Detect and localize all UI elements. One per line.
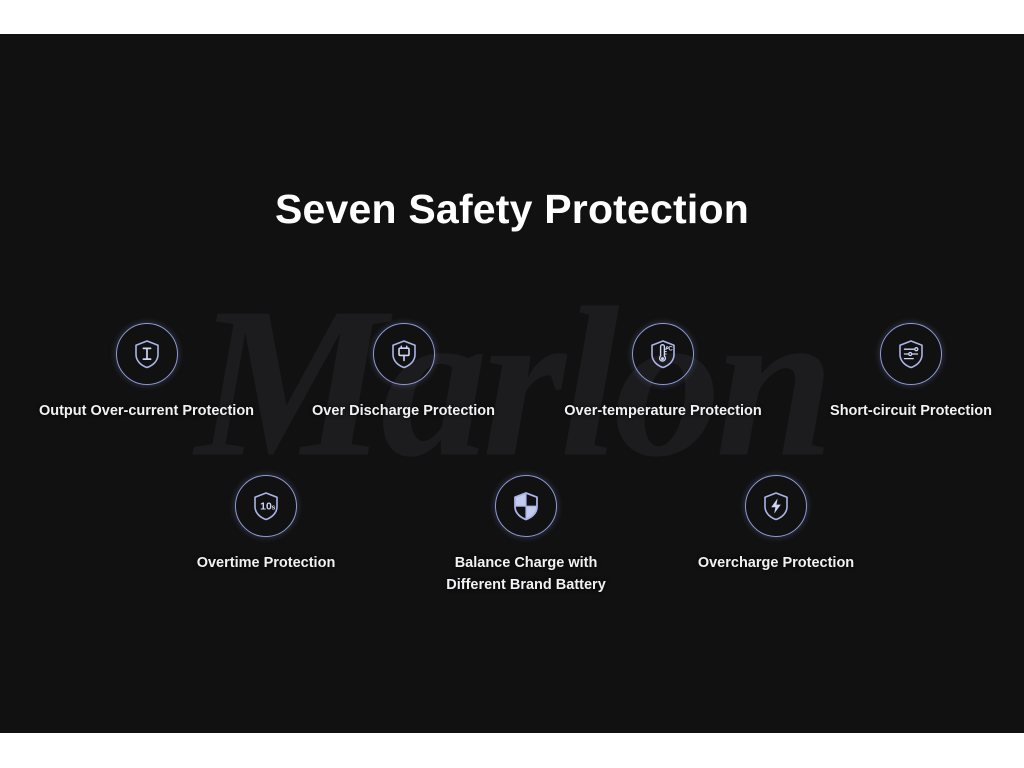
shield-discharge-plug-icon bbox=[373, 323, 435, 385]
feature-label: Short-circuit Protection bbox=[820, 400, 1002, 422]
feature-overtime: 10 s Overtime Protection bbox=[176, 475, 356, 574]
shield-circuit-icon bbox=[880, 323, 942, 385]
feature-label: Overcharge Protection bbox=[686, 552, 866, 574]
feature-label: Balance Charge with Different Brand Batt… bbox=[432, 552, 620, 596]
svg-text:C: C bbox=[668, 346, 673, 353]
shield-balance-icon bbox=[495, 475, 557, 537]
page-title: Seven Safety Protection bbox=[0, 186, 1024, 233]
feature-label: Over-temperature Protection bbox=[552, 400, 774, 422]
feature-label: Over Discharge Protection bbox=[302, 400, 505, 422]
feature-balance-charge: Balance Charge with Different Brand Batt… bbox=[432, 475, 620, 596]
shield-bolt-icon bbox=[745, 475, 807, 537]
svg-text:10: 10 bbox=[260, 500, 272, 512]
shield-current-icon bbox=[116, 323, 178, 385]
feature-label: Output Over-current Protection bbox=[24, 400, 269, 422]
banner-image: Marlon Seven Safety Protection Output Ov… bbox=[0, 0, 1024, 768]
feature-over-discharge: Over Discharge Protection bbox=[302, 323, 505, 422]
banner-panel: Marlon Seven Safety Protection Output Ov… bbox=[0, 34, 1024, 733]
svg-text:s: s bbox=[271, 504, 275, 511]
feature-over-temperature: C Over-temperature Protection bbox=[552, 323, 774, 422]
feature-output-over-current: Output Over-current Protection bbox=[24, 323, 269, 422]
shield-timer-icon: 10 s bbox=[235, 475, 297, 537]
shield-thermometer-icon: C bbox=[632, 323, 694, 385]
feature-overcharge: Overcharge Protection bbox=[686, 475, 866, 574]
feature-short-circuit: Short-circuit Protection bbox=[820, 323, 1002, 422]
feature-label: Overtime Protection bbox=[176, 552, 356, 574]
